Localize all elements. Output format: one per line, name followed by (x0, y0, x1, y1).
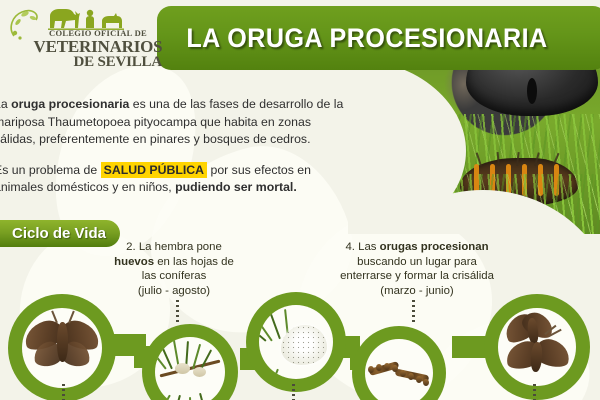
leader-line-step-4 (412, 300, 415, 324)
mating-moths-icon (498, 308, 576, 386)
organization-logo: COLEGIO OFICIAL DE VETERINARIOS DE SEVIL… (6, 2, 166, 80)
step-2-bold: huevos (114, 256, 154, 268)
step-4-number: 4. (345, 241, 355, 253)
intro-text: La oruga procesionaria es una de las fas… (0, 96, 346, 210)
leader-line-step-3 (292, 384, 295, 400)
dog-nose (466, 62, 598, 116)
caterpillar-procession-icon (365, 339, 433, 400)
mortal-warning-bold: pudiendo ser mortal. (175, 180, 297, 194)
step-2-period: (julio - agosto) (108, 284, 240, 299)
cycle-circle-mating-moths (484, 294, 590, 400)
cycle-circle-pine-eggs (142, 324, 238, 400)
pine-branch-eggs-icon (155, 337, 225, 400)
step-4-period: (marzo - junio) (332, 284, 502, 299)
intro-bold-term: oruga procesionaria (11, 97, 129, 111)
title-banner: LA ORUGA PROCESIONARIA (157, 6, 600, 70)
logo-line-3: DE SEVILLA (28, 55, 168, 70)
public-health-highlight: SALUD PÚBLICA (101, 162, 207, 178)
silk-nest-icon (259, 305, 333, 379)
step-2-number: 2. (126, 241, 136, 253)
cycle-circle-silk-nest (246, 292, 346, 392)
cycle-section-badge: Ciclo de Vida (0, 220, 120, 247)
intro-paragraph-1: La oruga procesionaria es una de las fas… (0, 96, 346, 149)
dog-nose-caterpillar-photo (348, 62, 600, 234)
lifecycle-diagram (0, 286, 600, 400)
cycle-step-4-caption: 4. Las orugas procesionan buscando un lu… (332, 240, 502, 298)
logo-line-2: VETERINARIOS (28, 38, 168, 55)
leader-line-step-1 (62, 384, 65, 400)
page-title: LA ORUGA PROCESIONARIA (172, 6, 563, 70)
leader-line-step-5 (533, 384, 536, 400)
intro-paragraph-2: Es un problema de SALUD PÚBLICA por sus … (0, 162, 346, 197)
step-4-bold: orugas procesionan (380, 241, 489, 253)
infographic-poster: COLEGIO OFICIAL DE VETERINARIOS DE SEVIL… (0, 0, 600, 400)
moth-icon (22, 308, 102, 388)
leader-line-step-2 (176, 300, 179, 324)
cycle-badge-label: Ciclo de Vida (2, 225, 106, 242)
cycle-step-2-caption: 2. La hembra pone huevos en las hojas de… (108, 240, 240, 298)
cycle-circle-procession (352, 326, 446, 400)
